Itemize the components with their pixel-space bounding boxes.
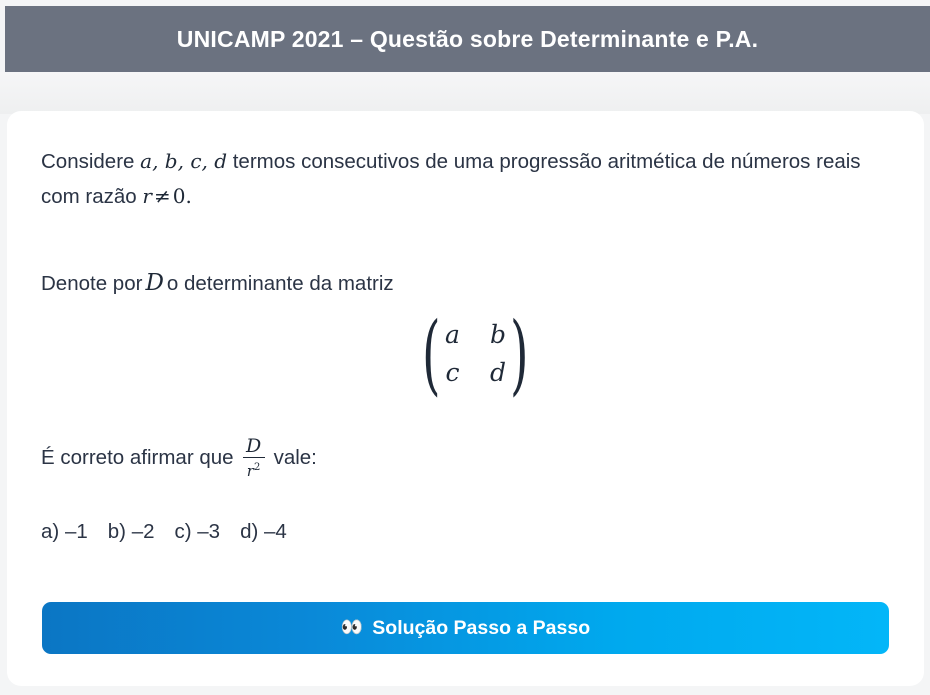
matrix-left-paren-icon: ( (422, 311, 441, 398)
statement-paragraph-1: Considere a, b, c, d termos consecutivos… (41, 144, 891, 214)
statement-paragraph-3: É correto afirmar que D r2 vale: (41, 436, 317, 479)
option-d[interactable]: d) –4 (240, 520, 287, 543)
option-a-letter: a) (41, 520, 59, 543)
eyes-icon: 👀 (341, 619, 363, 637)
math-variable-r: r (142, 184, 152, 208)
step-by-step-solution-button[interactable]: 👀 Solução Passo a Passo (42, 602, 889, 654)
matrix-right-paren-icon: ) (510, 311, 529, 398)
option-a-value: –1 (65, 520, 88, 543)
page-background-strip (0, 72, 930, 114)
math-variables-abcd: a, b, c, d (140, 149, 227, 173)
fraction-denominator-base: r (247, 462, 254, 480)
statement-text-part-3b: vale: (274, 441, 317, 475)
statement-text-part-1a: Considere (41, 150, 134, 173)
fraction-denominator: r2 (245, 458, 263, 480)
fraction-denominator-exponent: 2 (254, 462, 260, 473)
matrix-grid: a b c d (445, 321, 506, 387)
math-zero-value: 0. (173, 184, 192, 208)
statement-text-part-3a: É correto afirmar que (41, 441, 234, 475)
statement-paragraph-2: Denote porDo determinante da matriz (41, 266, 394, 301)
solution-button-label: Solução Passo a Passo (372, 617, 590, 640)
option-c-letter: c) (175, 520, 192, 543)
matrix-cell-d: d (490, 359, 506, 387)
fraction-numerator: D (244, 437, 263, 457)
statement-text-part-2a: Denote por (41, 272, 142, 295)
option-c-value: –3 (197, 520, 220, 543)
option-b[interactable]: b) –2 (108, 520, 155, 543)
matrix-cell-b: b (490, 321, 506, 349)
option-d-value: –4 (264, 520, 287, 543)
matrix-cell-a: a (445, 321, 460, 349)
option-c[interactable]: c) –3 (175, 520, 221, 543)
matrix-display: ( a b c d ) (7, 321, 924, 387)
statement-text-part-2b: o determinante da matriz (167, 272, 394, 295)
matrix-cell-c: c (445, 359, 459, 387)
math-determinant-symbol: D (142, 270, 166, 296)
answer-options: a) –1b) –2c) –3d) –4 (41, 517, 287, 547)
option-b-letter: b) (108, 520, 126, 543)
option-b-value: –2 (132, 520, 155, 543)
page-title: UNICAMP 2021 – Questão sobre Determinant… (177, 26, 758, 53)
matrix-wrapper: ( a b c d ) (420, 321, 530, 387)
math-not-equal-icon: ≠ (152, 184, 173, 208)
option-a[interactable]: a) –1 (41, 520, 88, 543)
fraction-d-over-r-squared: D r2 (243, 437, 265, 480)
question-card: Considere a, b, c, d termos consecutivos… (7, 111, 924, 686)
header-banner: UNICAMP 2021 – Questão sobre Determinant… (5, 6, 930, 72)
option-d-letter: d) (240, 520, 258, 543)
